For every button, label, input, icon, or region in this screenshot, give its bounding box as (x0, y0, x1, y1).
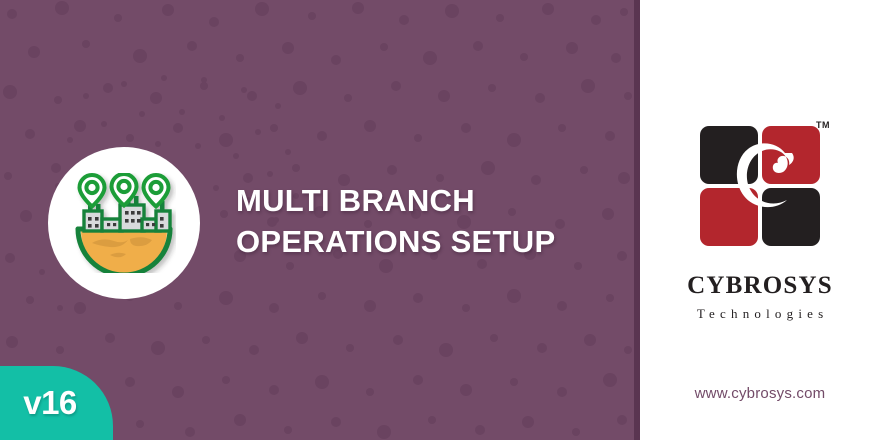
product-banner: MULTI BRANCH OPERATIONS SETUP v16 TM CYB… (0, 0, 880, 440)
cybrosys-logo: TM (688, 112, 832, 252)
version-badge-label: v16 (0, 366, 100, 440)
brand-website-url: www.cybrosys.com (640, 385, 880, 402)
trademark-icon: TM (816, 120, 830, 130)
version-badge: v16 (0, 366, 113, 440)
feature-icon-circle (48, 147, 200, 299)
right-brand-panel: TM CYBROSYS Technologies www.cybrosys.co… (640, 0, 880, 440)
brand-name: CYBROSYS (640, 272, 880, 300)
title-line-1: MULTI BRANCH (236, 180, 616, 221)
cybrosys-logo-wrap: TM (640, 112, 880, 262)
left-purple-panel: MULTI BRANCH OPERATIONS SETUP v16 (0, 0, 634, 440)
cybrosys-logo-glyph (688, 112, 832, 252)
multi-branch-globe-icon (72, 173, 176, 273)
brand-tagline: Technologies (640, 306, 880, 322)
title-line-2: OPERATIONS SETUP (236, 221, 616, 262)
banner-title: MULTI BRANCH OPERATIONS SETUP (236, 180, 616, 262)
